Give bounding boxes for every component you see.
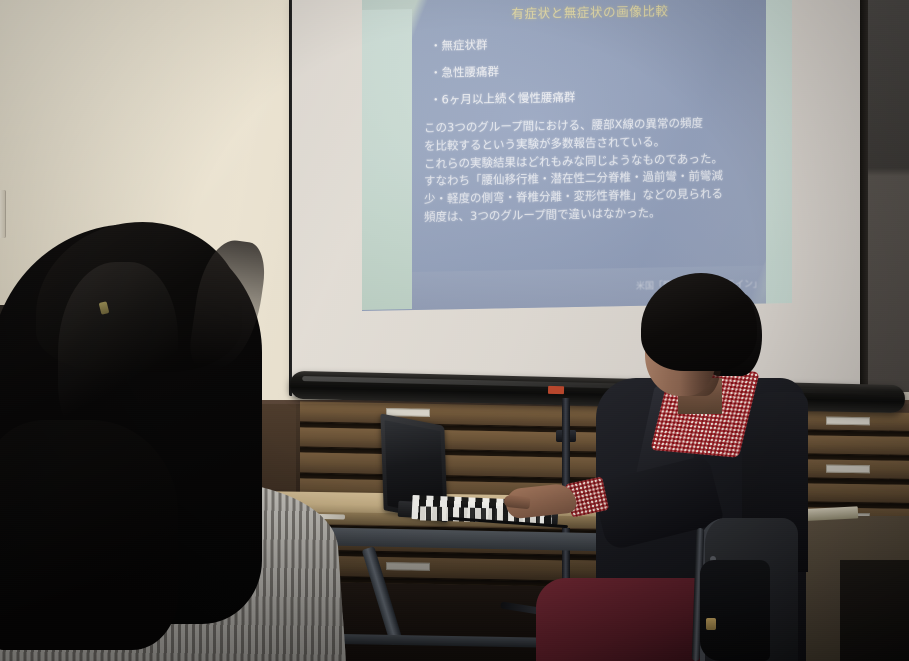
cabinet-label-card bbox=[826, 417, 870, 426]
presenter-trousers bbox=[536, 578, 716, 661]
brand-logo-icon bbox=[548, 386, 564, 394]
slide-title: 有症状と無症状の画像比較 bbox=[422, 0, 758, 24]
light-switch[interactable] bbox=[0, 190, 6, 238]
cabinet-label-card bbox=[386, 562, 430, 571]
slide-left-margin-band bbox=[362, 9, 412, 310]
right-cabinet-shadow bbox=[840, 560, 909, 661]
lecture-room-photo: 有症状と無症状の画像比較 無症状群 急性腰痛群 6ヶ月以上続く慢性腰痛群 この3… bbox=[0, 0, 909, 661]
slide-bullet-item: 6ヶ月以上続く慢性腰痛群 bbox=[430, 86, 758, 108]
draped-coat bbox=[700, 560, 770, 661]
slide-body-text: この3つのグループ間における、腰部X線の異常の頻度 を比較するという実験が多数報… bbox=[424, 114, 758, 227]
slide-bullet-item: 無症状群 bbox=[430, 32, 758, 54]
slide-bullet-item: 急性腰痛群 bbox=[430, 59, 758, 81]
right-dark-wall bbox=[868, 0, 909, 392]
cabinet-label-card bbox=[826, 465, 870, 474]
projected-slide: 有症状と無症状の画像比較 無症状群 急性腰痛群 6ヶ月以上続く慢性腰痛群 この3… bbox=[362, 0, 792, 311]
slide-bullet-list: 無症状群 急性腰痛群 6ヶ月以上続く慢性腰痛群 bbox=[430, 32, 758, 108]
slide-right-margin-band bbox=[766, 0, 792, 304]
chair-leg-tip bbox=[706, 618, 716, 630]
attendee-hair-front bbox=[0, 420, 178, 650]
